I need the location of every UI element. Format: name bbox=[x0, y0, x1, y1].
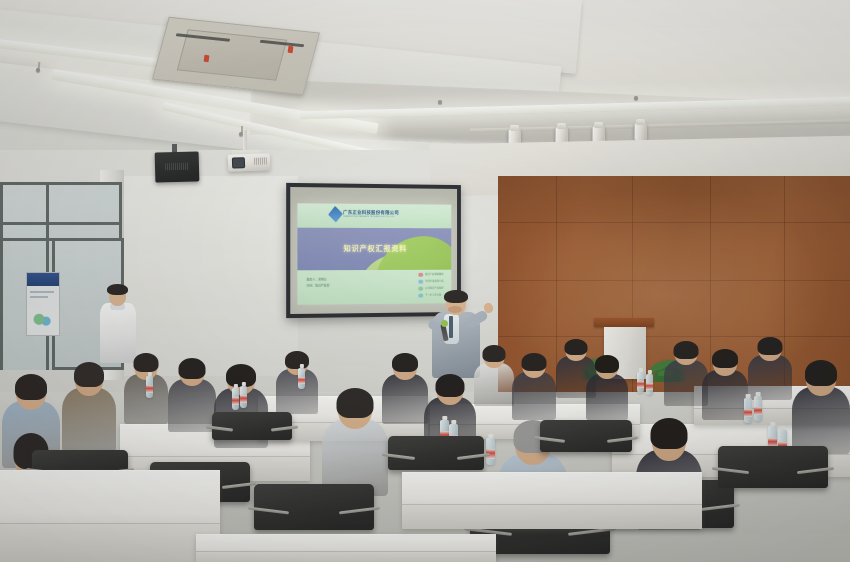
desks-front-layer bbox=[0, 0, 850, 562]
desk bbox=[196, 534, 496, 562]
conference-room-photo: 广东正业科技股份有限公司 GUANGDONG ZHENGYE TECHNOLOG… bbox=[0, 0, 850, 562]
desk-apron bbox=[196, 551, 496, 562]
desk-apron bbox=[402, 504, 702, 529]
desk bbox=[0, 470, 220, 562]
desk bbox=[402, 472, 702, 529]
desk-apron bbox=[0, 523, 220, 562]
